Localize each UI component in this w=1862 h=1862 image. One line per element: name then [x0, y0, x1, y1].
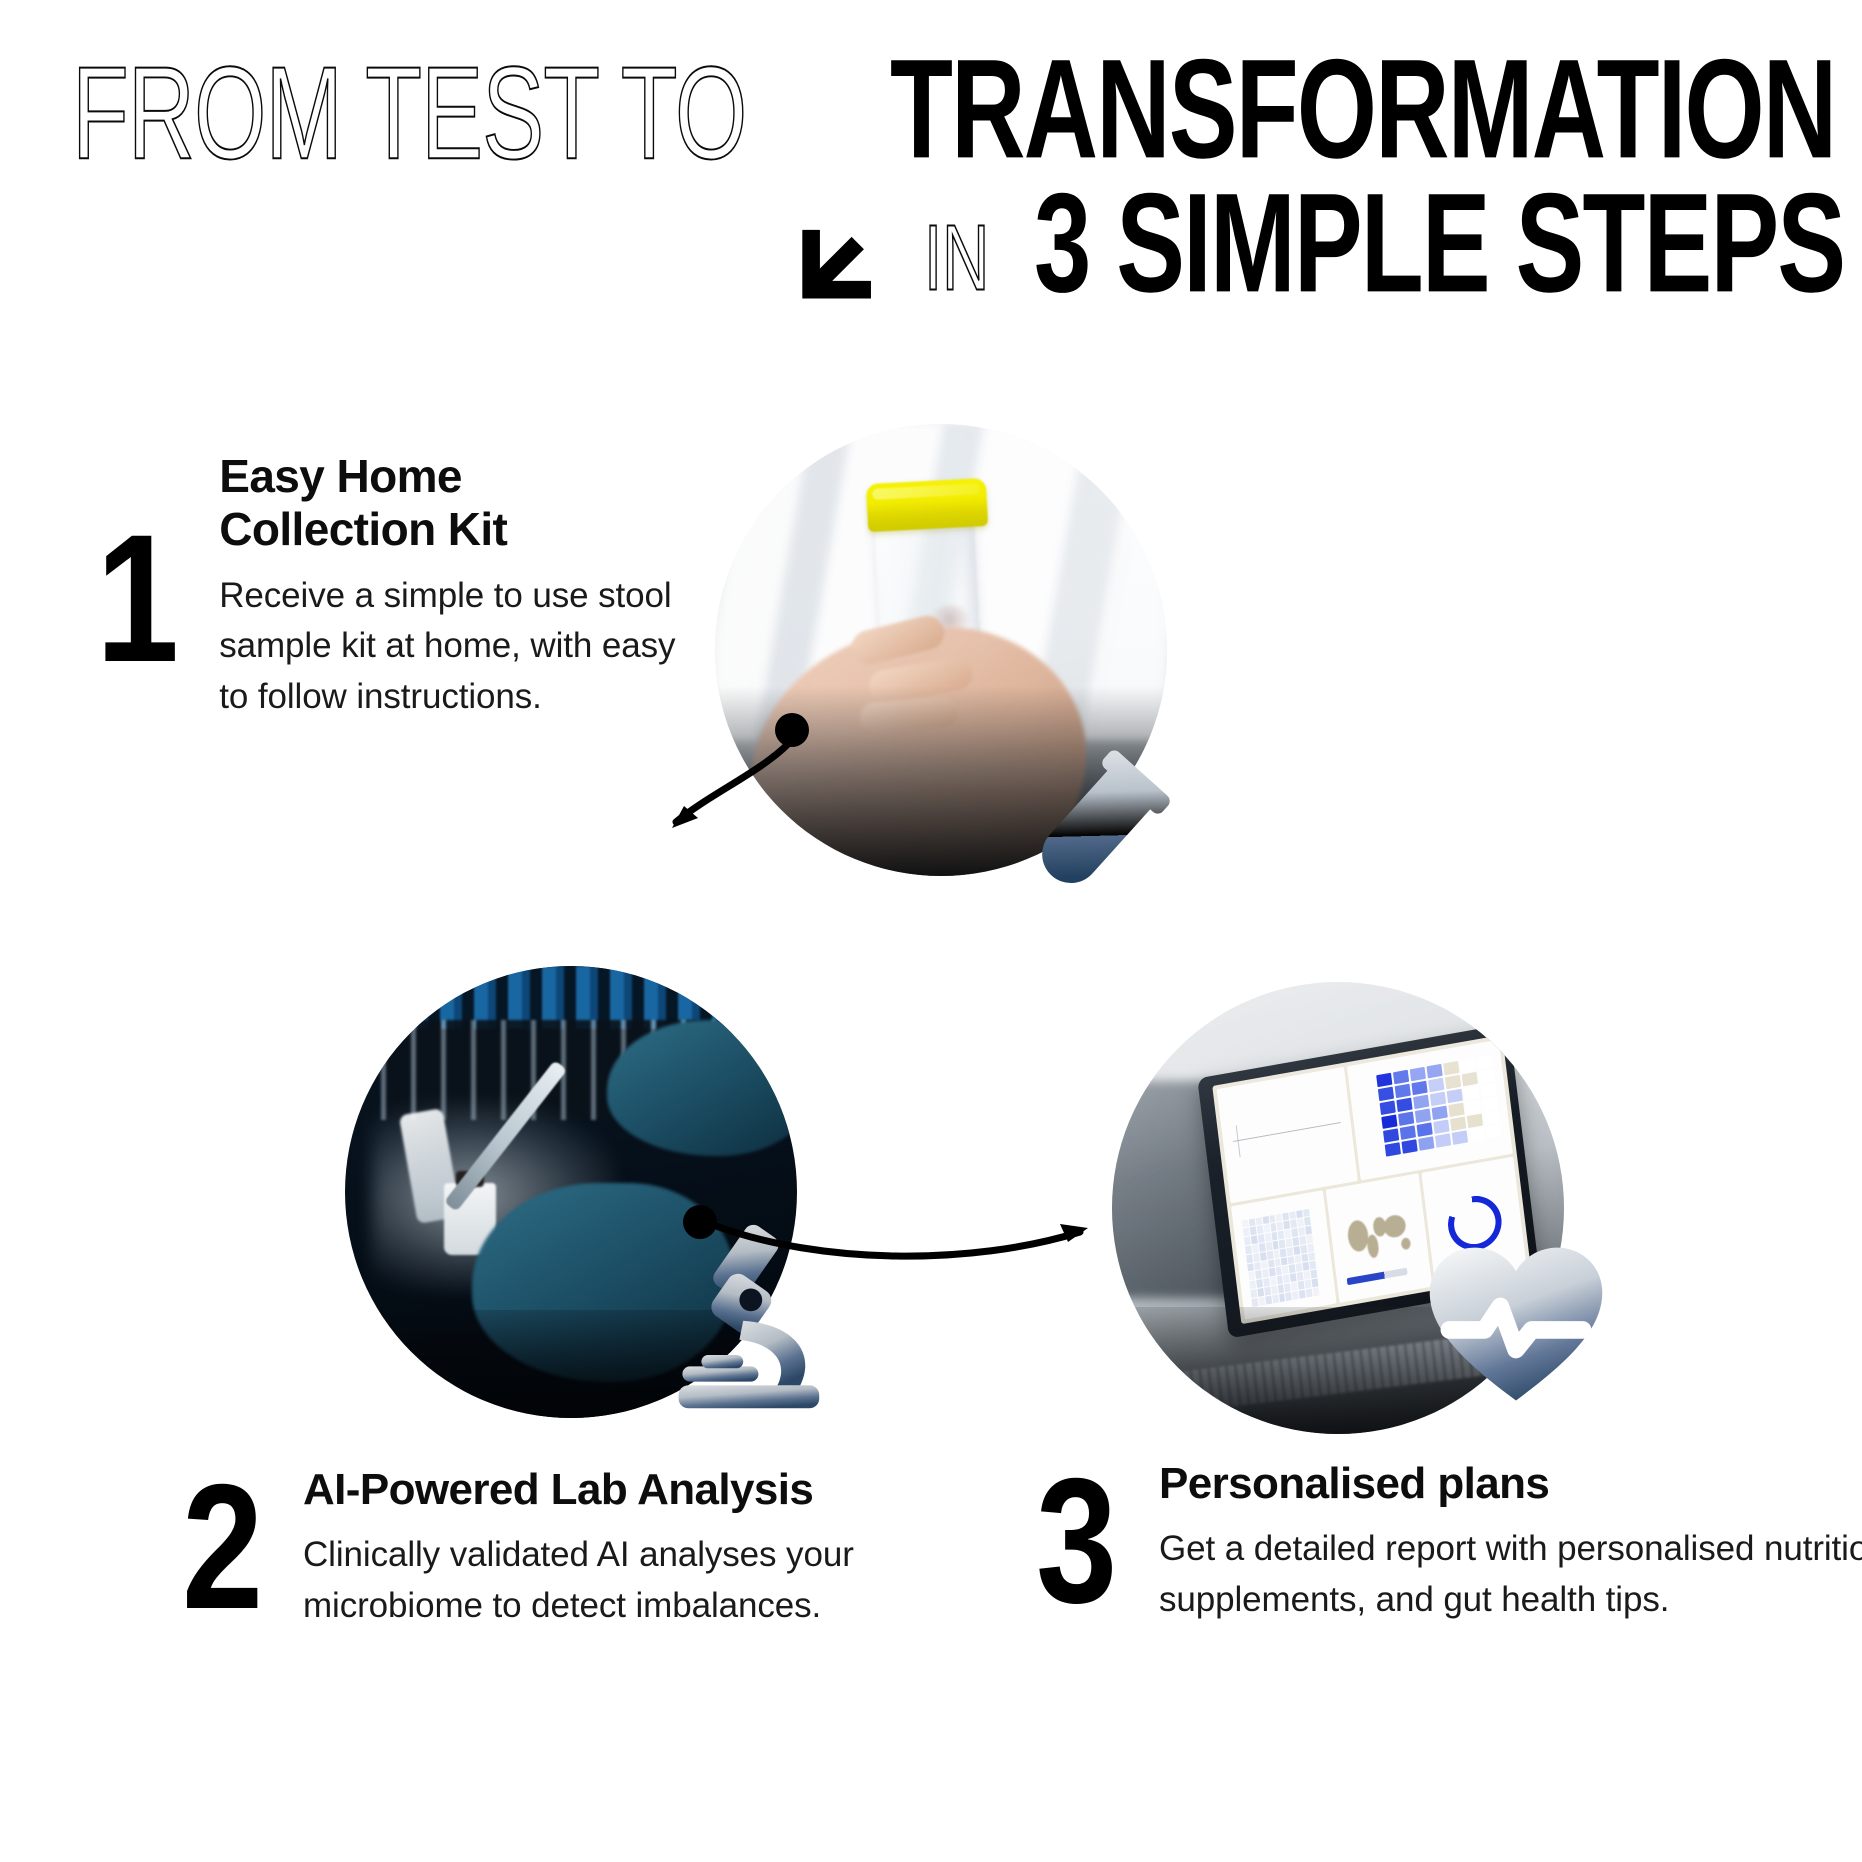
step-2-block: 2 AI-Powered Lab Analysis Clinically val…	[182, 1470, 903, 1632]
headline-steps-text: 3 SIMPLE STEPS	[1034, 173, 1844, 314]
specimen-cup-lid	[866, 477, 988, 531]
step-2-description: Clinically validated AI analyses your mi…	[303, 1530, 903, 1632]
headline-bold-text: TRANSFORMATION	[890, 39, 1835, 180]
step-1-description: Receive a simple to use stool sample kit…	[219, 571, 699, 723]
step-1-title-line-1: Easy Home	[219, 450, 699, 503]
step-1-title: Easy Home Collection Kit	[219, 450, 699, 557]
step-2-number: 2	[182, 1470, 263, 1623]
infographic-canvas: FROM TEST TO TRANSFORMATION IN 3 SIMPLE …	[0, 0, 1862, 1862]
step-3-text: Personalised plans Get a detailed report…	[1159, 1464, 1862, 1626]
connector-start-dot	[775, 713, 809, 747]
step-1-text: Easy Home Collection Kit Receive a simpl…	[219, 520, 699, 723]
heart-pulse-icon	[1418, 1228, 1614, 1424]
step-1-title-line-2: Collection Kit	[219, 503, 699, 556]
step-3-block: 3 Personalised plans Get a detailed repo…	[1036, 1464, 1862, 1626]
step-3-description: Get a detailed report with personalised …	[1159, 1524, 1862, 1626]
step-3-title: Personalised plans	[1159, 1460, 1862, 1508]
connector-start-dot	[683, 1205, 717, 1239]
gloved-hand-shape	[607, 1020, 797, 1156]
arrow-step1-to-step2	[560, 710, 900, 870]
step-2-text: AI-Powered Lab Analysis Clinically valid…	[303, 1470, 903, 1632]
arrow-down-left-icon	[790, 212, 878, 304]
step-3-number: 3	[1036, 1464, 1117, 1617]
headline-in-text: IN	[924, 205, 989, 311]
test-tube-icon	[1008, 745, 1188, 925]
step-2-title: AI-Powered Lab Analysis	[303, 1466, 903, 1514]
headline: FROM TEST TO TRANSFORMATION IN 3 SIMPLE …	[0, 68, 1862, 314]
headline-light-text: FROM TEST TO	[72, 47, 746, 179]
step-1-number: 1	[96, 520, 179, 677]
step-1-block: 1 Easy Home Collection Kit Receive a sim…	[96, 520, 699, 723]
headline-line-2: IN 3 SIMPLE STEPS	[0, 202, 1862, 314]
